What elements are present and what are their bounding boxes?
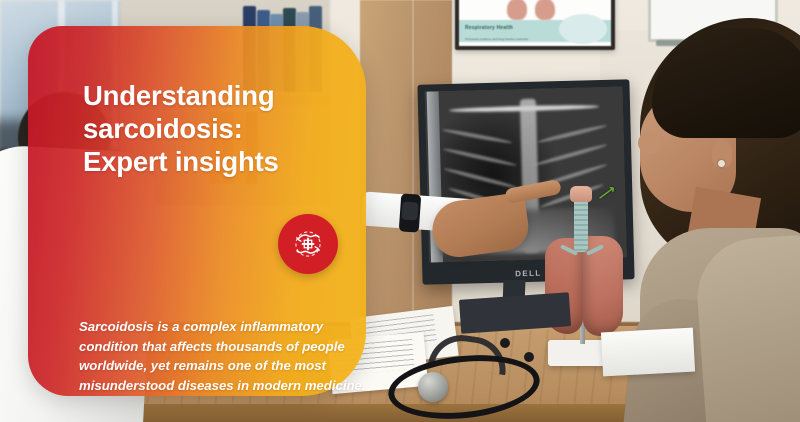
- xray-rib: [534, 143, 608, 167]
- patient-nose: [638, 132, 660, 154]
- stethoscope-eartip: [524, 352, 534, 362]
- xray-rib: [442, 128, 513, 145]
- xray-rib: [443, 166, 517, 189]
- wristwatch-face: [401, 201, 418, 220]
- lung-model-trachea: [574, 196, 588, 252]
- patient-scarf: [694, 234, 800, 422]
- xray-rib: [537, 124, 607, 145]
- poster-decorative-circle: [559, 14, 607, 44]
- caring-hands-medical-cross-icon: [278, 214, 338, 274]
- xray-rib: [443, 147, 517, 167]
- poster-title: Respiratory Health: [465, 25, 513, 31]
- banner-stage: Respiratory Health Pulmonary anatomy and…: [0, 0, 800, 422]
- poster-subtitle: Pulmonary anatomy and lung function over…: [465, 37, 560, 41]
- patient-earring: [718, 160, 725, 167]
- respiratory-health-poster: Respiratory Health Pulmonary anatomy and…: [455, 0, 615, 50]
- page-title: Understanding sarcoidosis: Expert insigh…: [83, 79, 353, 178]
- white-box: [601, 328, 695, 377]
- poster-lung-left-icon: [507, 0, 527, 20]
- cabinet-seam: [412, 0, 414, 330]
- page-description: Sarcoidosis is a complex inflammatory co…: [79, 317, 375, 395]
- lung-model-larynx: [570, 186, 592, 202]
- poster-lung-right-icon: [535, 0, 555, 20]
- stethoscope-chestpiece: [418, 372, 448, 402]
- stethoscope-eartip: [500, 338, 510, 348]
- content-panel: Understanding sarcoidosis: Expert insigh…: [28, 26, 366, 396]
